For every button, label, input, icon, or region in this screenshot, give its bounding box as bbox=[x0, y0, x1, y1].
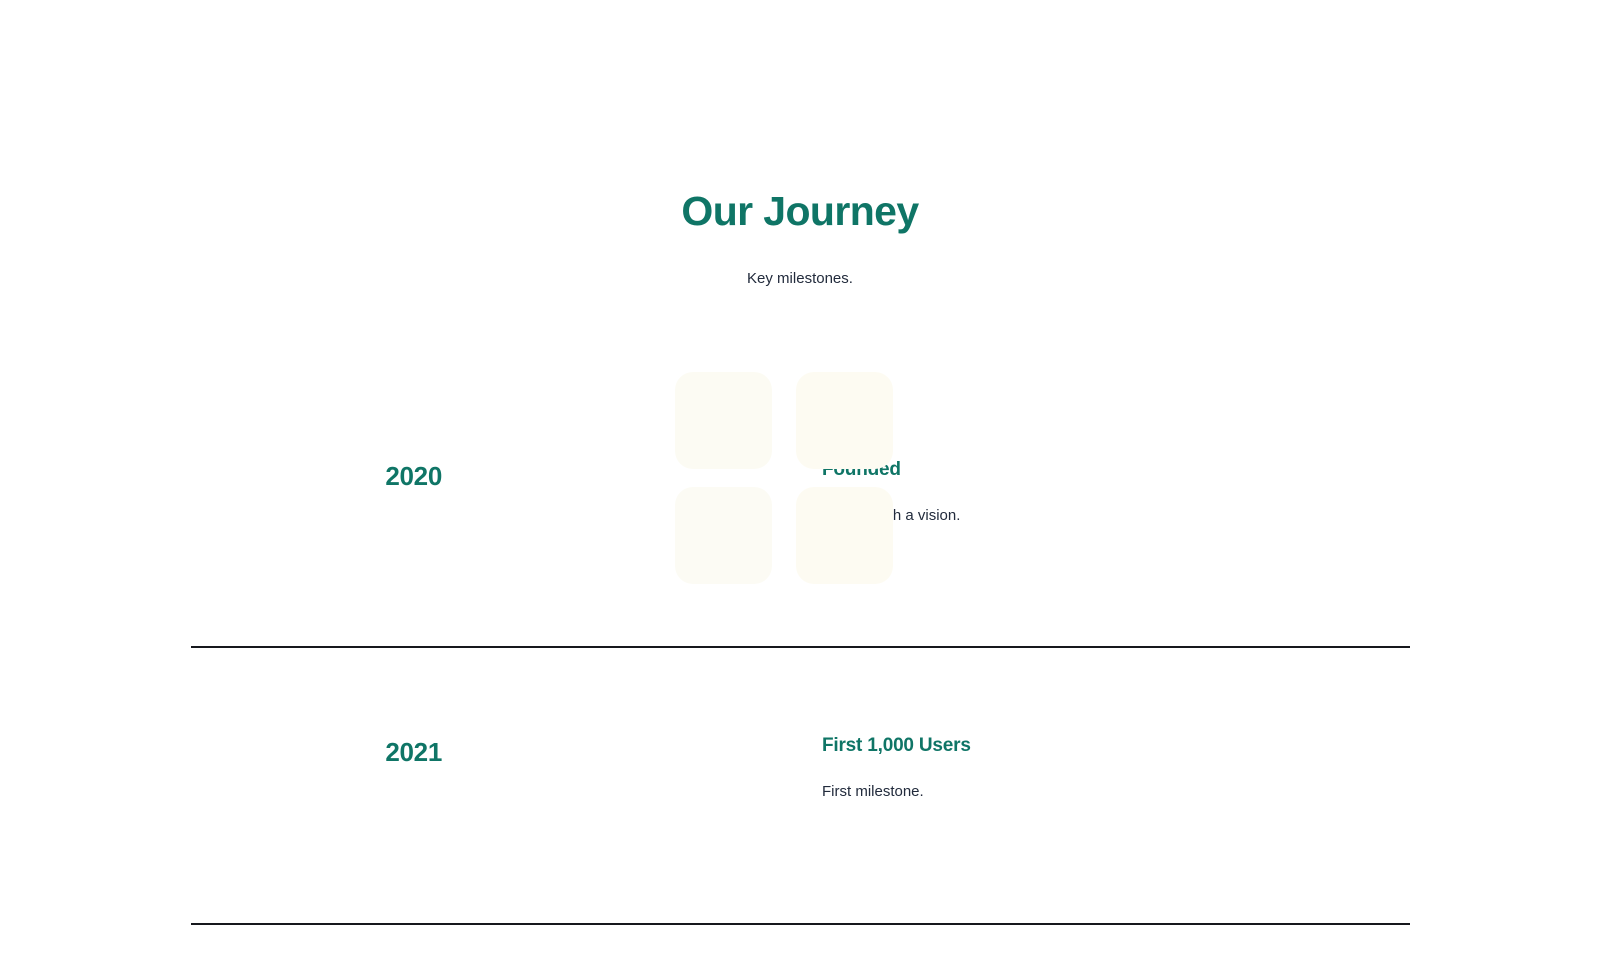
page-title: Our Journey bbox=[0, 186, 1600, 236]
timeline-year: 2020 bbox=[191, 460, 442, 492]
timeline-row[interactable]: 2020 Founded Started with a vision. bbox=[191, 372, 1410, 648]
timeline-description: First milestone. bbox=[822, 759, 1410, 803]
timeline-body-cell: Founded Started with a vision. bbox=[522, 372, 1410, 527]
journey-page: Our Journey Key milestones. 2020 Founded… bbox=[0, 0, 1600, 978]
section-subtitle: Key milestones. bbox=[0, 236, 1600, 290]
timeline-list: 2020 Founded Started with a vision. 2021… bbox=[191, 372, 1410, 925]
timeline-year: 2021 bbox=[191, 736, 442, 768]
timeline-year-cell: 2020 bbox=[191, 372, 522, 492]
timeline-year-cell: 2021 bbox=[191, 648, 522, 768]
section-header: Our Journey Key milestones. bbox=[0, 186, 1600, 290]
timeline-heading: Founded bbox=[822, 457, 1410, 483]
timeline-heading: First 1,000 Users bbox=[822, 733, 1410, 759]
timeline-body-cell: First 1,000 Users First milestone. bbox=[522, 648, 1410, 803]
timeline-description: Started with a vision. bbox=[822, 483, 1410, 527]
timeline-row[interactable]: 2021 First 1,000 Users First milestone. bbox=[191, 648, 1410, 925]
